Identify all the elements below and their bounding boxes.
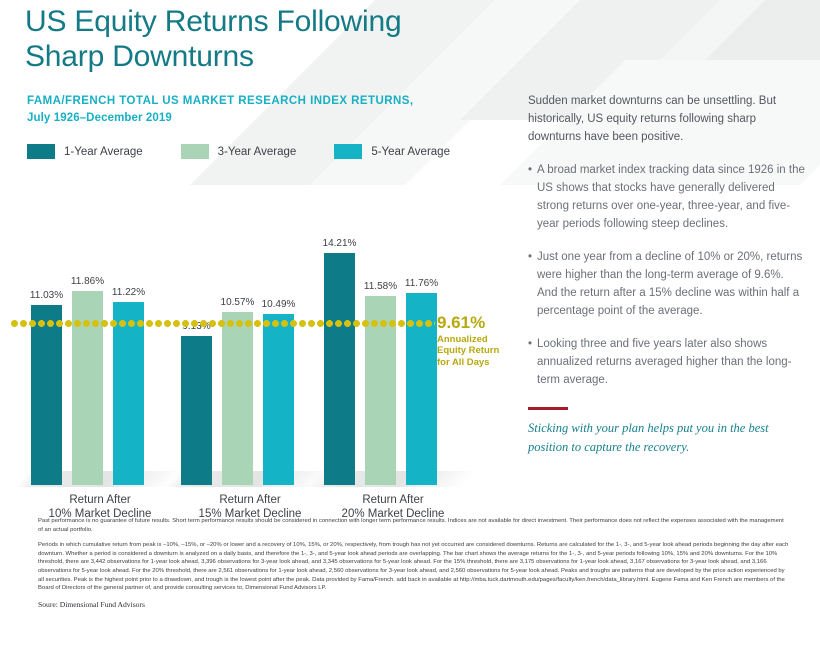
page-title: US Equity Returns Following Sharp Downtu… bbox=[25, 4, 425, 74]
legend-swatch-1yr bbox=[27, 144, 55, 159]
commentary-bullet-text: A broad market index tracking data since… bbox=[537, 164, 805, 230]
commentary-bullet-1: • A broad market index tracking data sin… bbox=[528, 161, 806, 233]
chart-subtitle-line1: FAMA/FRENCH TOTAL US MARKET RESEARCH IND… bbox=[27, 93, 447, 110]
footnote-paragraph-1: Past performance is no guarantee of futu… bbox=[38, 517, 790, 534]
bullet-dot-icon: • bbox=[528, 335, 532, 353]
chart-subtitle: FAMA/FRENCH TOTAL US MARKET RESEARCH IND… bbox=[27, 93, 447, 127]
bar-value-label: 14.21% bbox=[305, 238, 375, 249]
bar-2-3-year-average[interactable] bbox=[222, 312, 253, 485]
commentary-bullet-list: • A broad market index tracking data sin… bbox=[528, 161, 806, 389]
legend-item-1yr: 1-Year Average bbox=[27, 144, 143, 159]
average-caption-line-3: for All Days bbox=[437, 357, 532, 369]
commentary-bullet-2: • Just one year from a decline of 10% or… bbox=[528, 248, 806, 320]
bar-value-label: 11.76% bbox=[387, 278, 457, 289]
commentary-bullet-text: Looking three and five years later also … bbox=[537, 338, 791, 386]
bar-1-1-year-average[interactable] bbox=[31, 305, 62, 485]
bar-value-label: 11.86% bbox=[53, 276, 123, 287]
bar-2-5-year-average[interactable] bbox=[263, 314, 294, 486]
average-reference-line bbox=[10, 320, 435, 327]
chart-subtitle-line2: July 1926–December 2019 bbox=[27, 110, 447, 127]
chart-legend: 1-Year Average3-Year Average5-Year Avera… bbox=[27, 144, 488, 159]
legend-label-1yr: 1-Year Average bbox=[64, 146, 143, 158]
legend-label-3yr: 3-Year Average bbox=[218, 146, 297, 158]
bar-group-1: 11.03%11.86%11.22% bbox=[25, 185, 175, 485]
average-caption-line-2: Equity Return bbox=[437, 345, 532, 357]
chart-plot-area: 11.03%11.86%11.22%Return After10% Market… bbox=[0, 185, 515, 485]
bar-value-label: 10.49% bbox=[244, 299, 314, 310]
footnote-paragraph-2: Periods in which cumulative return from … bbox=[38, 541, 790, 593]
legend-swatch-5yr bbox=[334, 144, 362, 159]
source-line: Soure: Dimensional Fund Advisors bbox=[38, 600, 790, 609]
bar-value-label: 11.22% bbox=[94, 287, 164, 298]
commentary-panel: Sudden market downturns can be unsettlin… bbox=[528, 92, 806, 457]
chart-column: US Equity Returns Following Sharp Downtu… bbox=[0, 0, 515, 525]
bullet-dot-icon: • bbox=[528, 248, 532, 266]
legend-label-5yr: 5-Year Average bbox=[371, 146, 450, 158]
bar-value-label: 11.03% bbox=[12, 290, 82, 301]
average-value: 9.61% bbox=[437, 314, 532, 332]
pullquote: Sticking with your plan helps put you in… bbox=[528, 419, 806, 457]
bar-2-1-year-average[interactable] bbox=[181, 336, 212, 485]
average-annotation: 9.61%AnnualizedEquity Returnfor All Days bbox=[437, 314, 532, 369]
bar-1-5-year-average[interactable] bbox=[113, 302, 144, 485]
commentary-bullet-3: • Looking three and five years later als… bbox=[528, 335, 806, 389]
legend-item-3yr: 3-Year Average bbox=[181, 144, 297, 159]
legend-swatch-3yr bbox=[181, 144, 209, 159]
commentary-bullet-text: Just one year from a decline of 10% or 2… bbox=[537, 251, 802, 317]
bar-group-2: 9.13%10.57%10.49% bbox=[175, 185, 325, 485]
average-caption-line-1: Annualized bbox=[437, 334, 532, 346]
bar-chart: 11.03%11.86%11.22%Return After10% Market… bbox=[0, 185, 515, 485]
footnotes: Past performance is no guarantee of futu… bbox=[38, 517, 790, 609]
bullet-dot-icon: • bbox=[528, 161, 532, 179]
category-label-line-1: Return After bbox=[298, 493, 488, 507]
commentary-lead: Sudden market downturns can be unsettlin… bbox=[528, 92, 806, 146]
pullquote-divider bbox=[528, 407, 568, 410]
legend-item-5yr: 5-Year Average bbox=[334, 144, 450, 159]
